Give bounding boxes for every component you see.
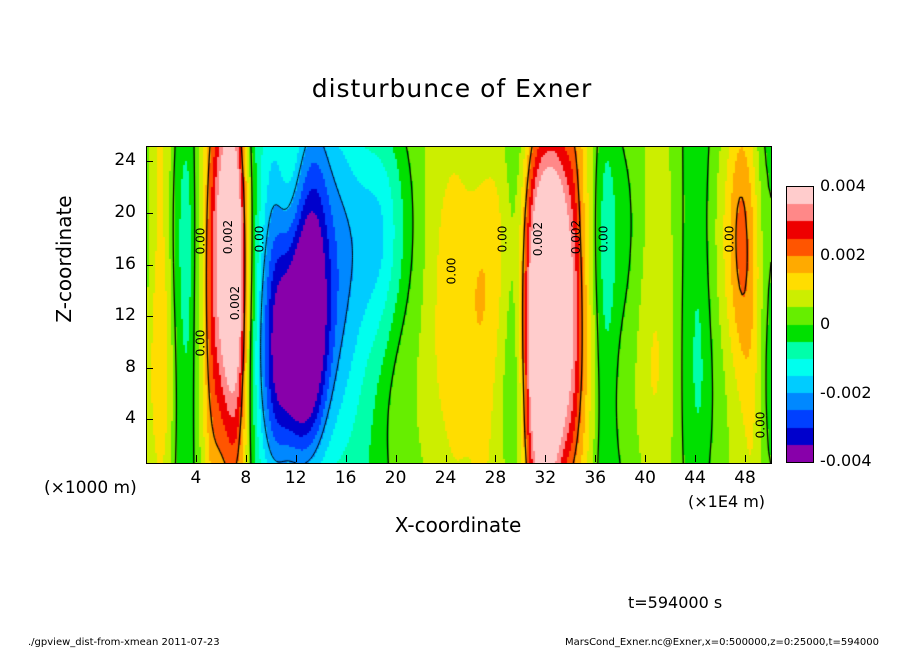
contour-value-label: 0.00 xyxy=(193,228,207,255)
x-tick-mark xyxy=(695,455,696,462)
colorbar-tick-label: 0.002 xyxy=(820,245,866,264)
x-tick-label: 8 xyxy=(226,468,266,488)
colorbar xyxy=(786,186,814,463)
y-tick-label: 8 xyxy=(94,357,136,377)
timestamp: t=594000 s xyxy=(628,593,722,612)
y-tick-mark xyxy=(146,265,153,266)
y-tick-label: 16 xyxy=(94,254,136,274)
contour-value-label: 0.00 xyxy=(444,258,458,285)
contour-value-label: 0.00 xyxy=(596,226,610,253)
colorbar-tick-label: 0 xyxy=(820,314,830,333)
colorbar-gradient xyxy=(787,187,813,462)
x-tick-mark xyxy=(246,455,247,462)
x-tick-label: 20 xyxy=(376,468,416,488)
footer-right: MarsCond_Exner.nc@Exner,x=0:500000,z=0:2… xyxy=(565,637,879,648)
contour-value-label: 0.002 xyxy=(531,222,545,256)
x-tick-mark xyxy=(545,455,546,462)
y-tick-label: 4 xyxy=(94,408,136,428)
colorbar-tick-label: -0.004 xyxy=(820,451,872,470)
contour-value-label: 0.00 xyxy=(193,330,207,357)
x-tick-label: 24 xyxy=(426,468,466,488)
x-tick-label: 12 xyxy=(276,468,316,488)
y-tick-mark xyxy=(146,213,153,214)
contour-value-label: 0.002 xyxy=(569,220,583,254)
x-tick-mark xyxy=(346,455,347,462)
x-tick-mark xyxy=(396,455,397,462)
contour-value-label: 0.00 xyxy=(495,226,509,253)
x-tick-mark xyxy=(595,455,596,462)
x-tick-label: 16 xyxy=(326,468,366,488)
x-tick-mark xyxy=(296,455,297,462)
y-tick-label: 20 xyxy=(94,202,136,222)
x-tick-label: 44 xyxy=(675,468,715,488)
x-tick-mark xyxy=(196,455,197,462)
x-tick-label: 32 xyxy=(525,468,565,488)
contour-value-label: 0.00 xyxy=(753,412,767,439)
footer-left: ./gpview_dist-from-xmean 2011-07-23 xyxy=(28,637,220,648)
contour-value-label: 0.002 xyxy=(221,220,235,254)
colorbar-tick-label: 0.004 xyxy=(820,176,866,195)
x-tick-label: 4 xyxy=(176,468,216,488)
x-tick-label: 36 xyxy=(575,468,615,488)
y-tick-mark xyxy=(146,161,153,162)
y-tick-label: 12 xyxy=(94,305,136,325)
x-tick-label: 48 xyxy=(725,468,765,488)
y-axis-title: Z-coordinate xyxy=(52,149,76,369)
contour-value-label: 0.002 xyxy=(228,286,242,320)
contour-value-label: 0.00 xyxy=(252,226,266,253)
x-tick-mark xyxy=(645,455,646,462)
x-units-label: (×1E4 m) xyxy=(688,492,765,511)
contour-value-label: 0.00 xyxy=(722,226,736,253)
y-tick-mark xyxy=(146,419,153,420)
y-tick-label: 24 xyxy=(94,150,136,170)
x-axis-title: X-coordinate xyxy=(146,513,770,537)
x-tick-mark xyxy=(745,455,746,462)
x-tick-label: 28 xyxy=(475,468,515,488)
y-tick-mark xyxy=(146,316,153,317)
colorbar-tick-label: -0.002 xyxy=(820,383,872,402)
y-units-label: (×1000 m) xyxy=(44,478,137,498)
page-title: disturbunce of Exner xyxy=(0,74,904,103)
x-tick-mark xyxy=(446,455,447,462)
x-tick-label: 40 xyxy=(625,468,665,488)
x-tick-mark xyxy=(495,455,496,462)
y-tick-mark xyxy=(146,368,153,369)
